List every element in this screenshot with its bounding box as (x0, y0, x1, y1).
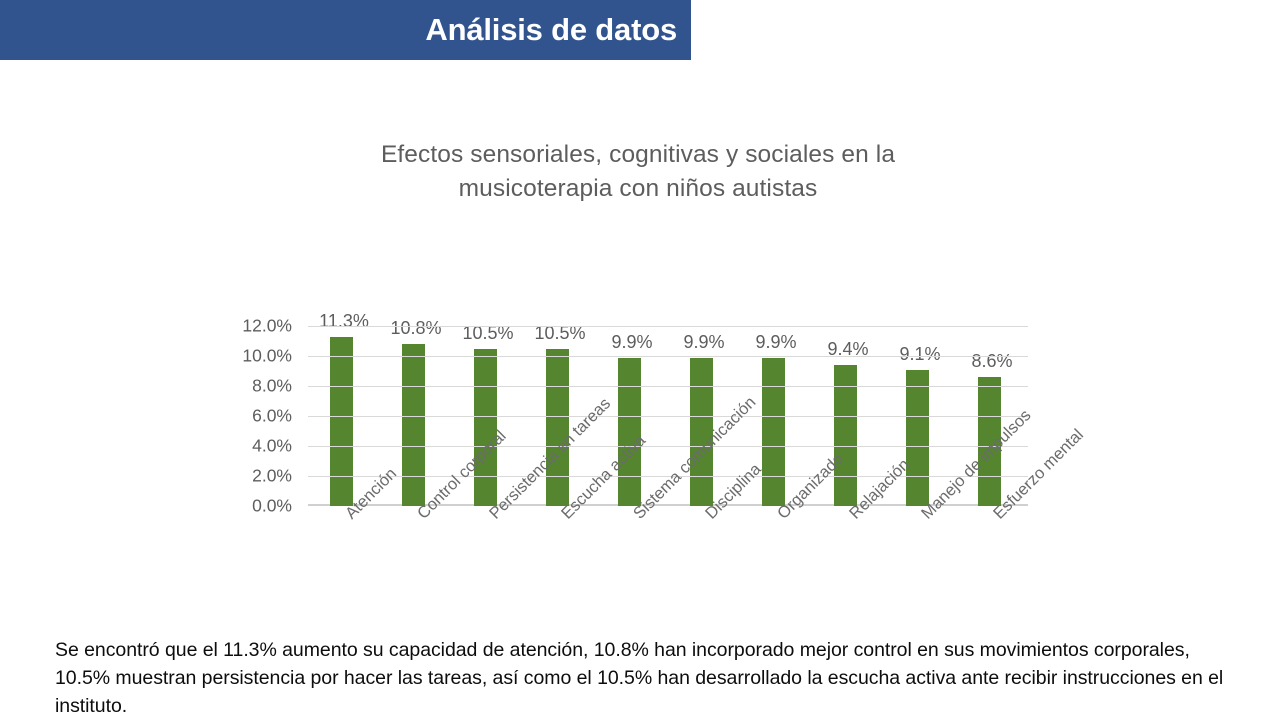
bar-slot: 11.3% (308, 220, 380, 506)
bar-data-label: 8.6% (956, 351, 1028, 372)
y-axis: 0.0%2.0%4.0%6.0%8.0%10.0%12.0% (228, 220, 300, 406)
bar-data-label: 9.9% (740, 332, 812, 353)
x-axis-category-label: Disciplina (702, 510, 715, 523)
x-axis-category-label: Sistema comunicación (630, 510, 643, 523)
y-axis-tick-label: 8.0% (252, 376, 292, 397)
bar-data-label: 9.9% (668, 332, 740, 353)
chart-title: Efectos sensoriales, cognitivas y social… (298, 138, 978, 206)
x-axis-category-labels: AtenciónControl corporalPersistencia en … (308, 510, 1028, 650)
bar-data-label: 9.1% (884, 344, 956, 365)
x-axis-category-label: Control corporal (414, 510, 427, 523)
chart-title-line-1: Efectos sensoriales, cognitivas y social… (298, 138, 978, 172)
chart-title-line-2: musicoterapia con niños autistas (298, 172, 978, 206)
bar-data-label: 10.8% (380, 318, 452, 339)
slide-title-banner: Análisis de datos (0, 0, 691, 60)
x-axis-category-label: Persistencia en tareas (486, 510, 499, 523)
y-axis-tick-label: 4.0% (252, 436, 292, 457)
x-axis-category-label: Manejo de impulsos (918, 510, 931, 523)
page-title: Análisis de datos (425, 12, 677, 48)
y-axis-tick-label: 12.0% (242, 316, 292, 337)
bar-data-label: 9.9% (596, 332, 668, 353)
gridline (308, 326, 1028, 327)
gridline (308, 416, 1028, 417)
bar-slot: 10.8% (380, 220, 452, 506)
x-axis-category-label: Esfuerzo mental (990, 510, 1003, 523)
y-axis-tick-label: 2.0% (252, 466, 292, 487)
y-axis-tick-label: 10.0% (242, 346, 292, 367)
x-axis-category-label: Relajación (846, 510, 859, 523)
bar[interactable] (546, 349, 569, 507)
plot-area: 11.3%10.8%10.5%10.5%9.9%9.9%9.9%9.4%9.1%… (308, 220, 1028, 506)
slide-body-paragraph: Se encontró que el 11.3% aumento su capa… (55, 636, 1230, 720)
x-axis-category-label: Atención (342, 510, 355, 523)
bar-data-label: 11.3% (308, 311, 380, 332)
bar[interactable] (762, 358, 785, 507)
bar-chart: Efectos sensoriales, cognitivas y social… (228, 128, 1040, 558)
y-axis-tick-label: 0.0% (252, 496, 292, 517)
chart-plot-wrapper: 0.0%2.0%4.0%6.0%8.0%10.0%12.0% 11.3%10.8… (228, 220, 1040, 520)
bars-layer: 11.3%10.8%10.5%10.5%9.9%9.9%9.9%9.4%9.1%… (308, 220, 1028, 506)
x-axis-category-label: Escucha activa (558, 510, 571, 523)
gridline (308, 386, 1028, 387)
gridline (308, 446, 1028, 447)
bar[interactable] (402, 344, 425, 506)
gridline (308, 356, 1028, 357)
y-axis-tick-label: 6.0% (252, 406, 292, 427)
bar[interactable] (474, 349, 497, 507)
bar[interactable] (330, 337, 353, 507)
bar[interactable] (906, 370, 929, 507)
x-axis-category-label: Organizado (774, 510, 787, 523)
